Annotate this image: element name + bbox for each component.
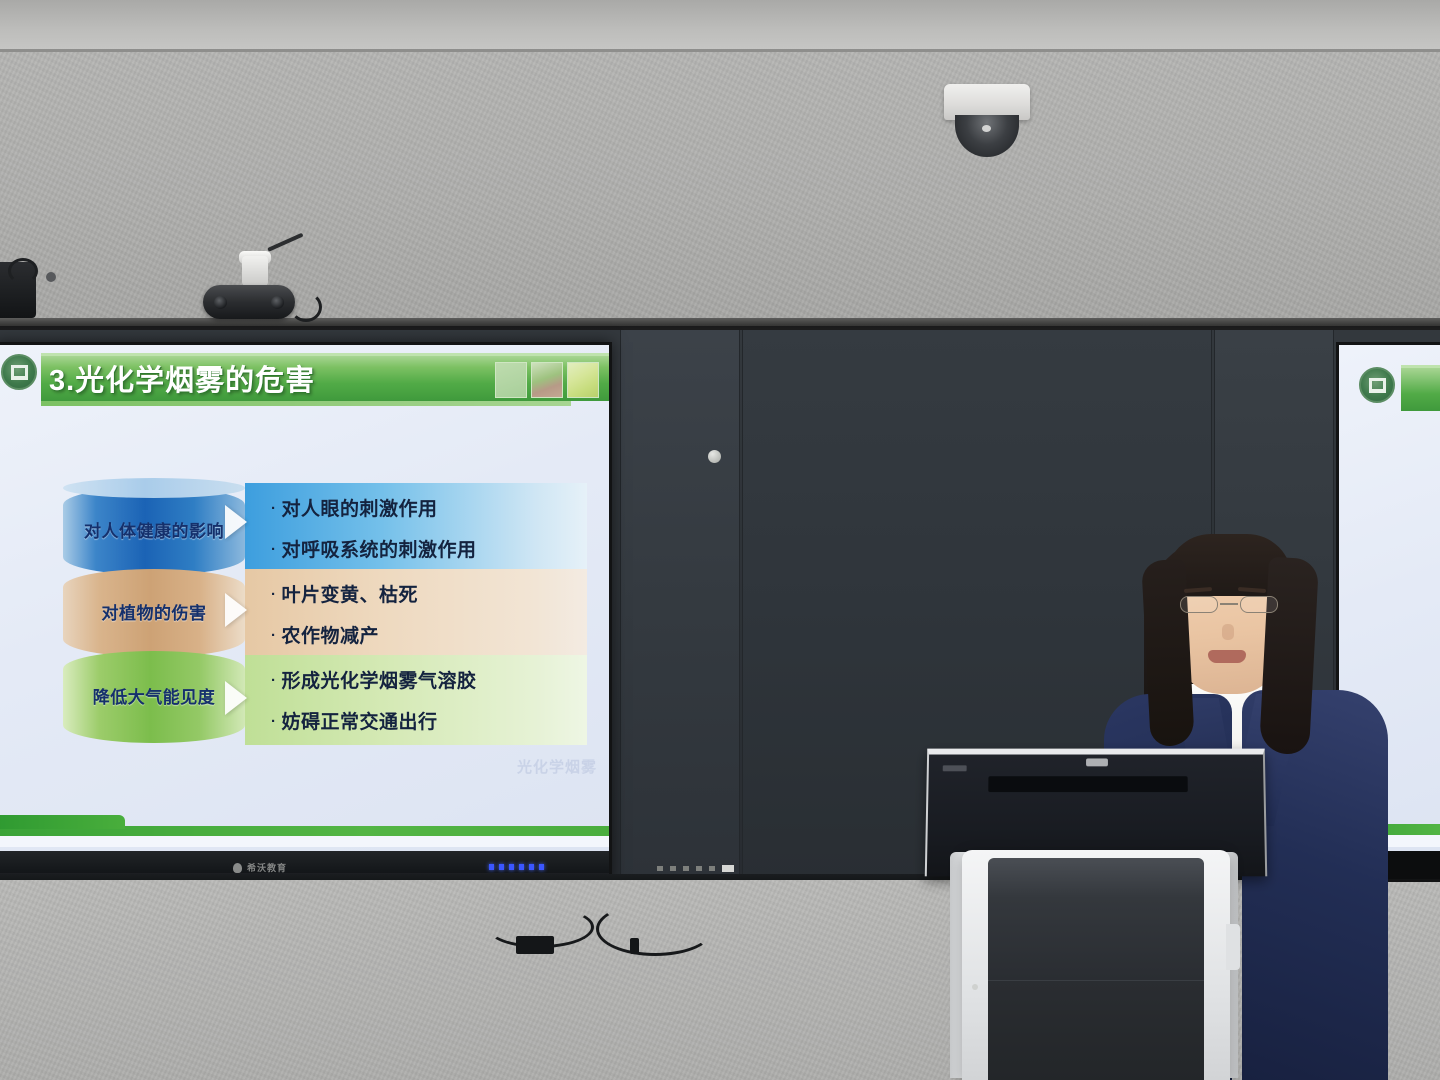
lectern-front-panel <box>988 858 1204 1080</box>
arrow-right-icon <box>225 681 247 715</box>
bullet-text: 对呼吸系统的刺激作用 <box>282 540 477 561</box>
power-button[interactable] <box>722 865 734 872</box>
control-button[interactable] <box>709 866 715 871</box>
bullet-marker: · <box>271 541 277 558</box>
bullet-marker: · <box>271 672 277 689</box>
led-indicator <box>489 864 494 870</box>
tracking-camera-mount <box>242 256 268 286</box>
control-button[interactable] <box>683 866 689 871</box>
display-control-buttons[interactable] <box>657 865 734 872</box>
category-cylinder-visibility: 降低大气能见度 <box>63 651 245 743</box>
tracking-camera <box>203 285 295 319</box>
bullet-marker: · <box>271 586 277 603</box>
led-indicator <box>499 864 504 870</box>
secondary-title-bar <box>1401 365 1440 411</box>
bullet-text: 叶片变黄、枯死 <box>282 585 419 606</box>
bullet-marker: · <box>271 500 277 517</box>
category-label-plants: 对植物的伤害 <box>102 603 207 624</box>
bullet-item: ·对人眼的刺激作用 <box>271 489 587 530</box>
bullet-marker: · <box>271 713 277 730</box>
control-button[interactable] <box>696 866 702 871</box>
brand-logo-icon <box>233 863 242 873</box>
bullet-item: ·叶片变黄、枯死 <box>271 575 587 616</box>
camera-eye-right <box>271 296 284 309</box>
bullet-item: ·妨碍正常交通出行 <box>271 702 587 743</box>
ceiling <box>0 0 1440 50</box>
classroom-scene: 3.光化学烟雾的危害 对人体健康的影响 对植物的伤害 降低大气能见度 <box>0 0 1440 1080</box>
bullet-marker: · <box>271 627 277 644</box>
lectern-camera-icon <box>1086 758 1108 766</box>
bullet-bands: ·对人眼的刺激作用 ·对呼吸系统的刺激作用 ·叶片变黄、枯死 ·农作物减产 <box>245 483 587 745</box>
leaf-thumbnail-2-icon <box>531 362 563 398</box>
bullet-band-plants: ·叶片变黄、枯死 ·农作物减产 <box>245 569 587 655</box>
board-panel-left <box>620 330 740 882</box>
lectern-side-handle[interactable] <box>1226 924 1240 970</box>
bullet-band-health: ·对人眼的刺激作用 ·对呼吸系统的刺激作用 <box>245 483 587 569</box>
camera-eye-left <box>214 296 227 309</box>
control-button[interactable] <box>670 866 676 871</box>
category-cylinder-health: 对人体健康的影响 <box>63 487 245 575</box>
footer-green-tab <box>0 815 125 829</box>
bullet-text: 妨碍正常交通出行 <box>282 712 438 733</box>
interactive-display[interactable]: 3.光化学烟雾的危害 对人体健康的影响 对植物的伤害 降低大气能见度 <box>0 342 612 882</box>
header-thumbnails <box>495 362 599 398</box>
camera-lens <box>955 115 1019 157</box>
camera-glint <box>982 125 991 132</box>
slide-watermark: 光化学烟雾 <box>417 759 597 797</box>
bullet-item: ·形成光化学烟雾气溶胶 <box>271 661 587 702</box>
cylinder-top-ellipse <box>63 478 245 498</box>
control-button[interactable] <box>657 866 663 871</box>
university-seal-icon <box>1359 367 1395 403</box>
presentation-slide: 3.光化学烟雾的危害 对人体健康的影响 对植物的伤害 降低大气能见度 <box>0 345 609 851</box>
bullet-item: ·农作物减产 <box>271 616 587 657</box>
dome-security-camera <box>944 84 1030 158</box>
lectern-screen-strip <box>988 776 1188 792</box>
led-indicator <box>509 864 514 870</box>
bullet-text: 对人眼的刺激作用 <box>282 499 438 520</box>
cable-plug <box>630 938 639 954</box>
led-indicator <box>529 864 534 870</box>
smart-lectern[interactable] <box>920 748 1266 1080</box>
category-cylinder-plants: 对植物的伤害 <box>63 569 245 657</box>
lens-left <box>1180 596 1218 613</box>
category-label-health: 对人体健康的影响 <box>84 521 224 542</box>
mouth <box>1208 650 1246 663</box>
bullet-band-visibility: ·形成光化学烟雾气溶胶 ·妨碍正常交通出行 <box>245 655 587 745</box>
hair-side-right <box>1259 557 1319 755</box>
lectern-status-led <box>972 984 978 990</box>
lectern-body <box>962 850 1230 1080</box>
category-label-visibility: 降低大气能见度 <box>93 687 216 708</box>
leaf-thumbnail-1-icon <box>495 362 527 398</box>
left-device-knob <box>46 272 56 282</box>
left-device-cable <box>8 258 38 284</box>
category-cylinder-stack: 对人体健康的影响 对植物的伤害 降低大气能见度 <box>63 487 245 743</box>
bullet-item: ·对呼吸系统的刺激作用 <box>271 530 587 571</box>
university-seal-icon <box>1 354 37 390</box>
led-indicator <box>539 864 544 870</box>
footer-white-bar <box>0 836 609 847</box>
cable-adapter-box <box>516 936 554 954</box>
leaf-thumbnail-3-icon <box>567 362 599 398</box>
arrow-right-icon <box>225 593 247 627</box>
status-led-strip <box>489 864 544 870</box>
bullet-text: 农作物减产 <box>282 626 380 647</box>
power-cable-right <box>596 902 714 956</box>
panel-marker-dot <box>708 450 721 463</box>
lens-right <box>1240 596 1278 613</box>
bullet-text: 形成光化学烟雾气溶胶 <box>282 671 477 692</box>
glasses-bridge <box>1220 603 1238 605</box>
nose <box>1222 624 1234 640</box>
lectern-brand-icon <box>943 765 967 771</box>
page-title: 3.光化学烟雾的危害 <box>49 360 315 402</box>
slide-logo <box>0 351 39 393</box>
eyeglasses-icon <box>1178 596 1280 614</box>
arrow-right-icon <box>225 505 247 539</box>
slide-title-bar: 3.光化学烟雾的危害 <box>41 353 609 401</box>
tracking-camera-cable <box>290 292 322 322</box>
led-indicator <box>519 864 524 870</box>
